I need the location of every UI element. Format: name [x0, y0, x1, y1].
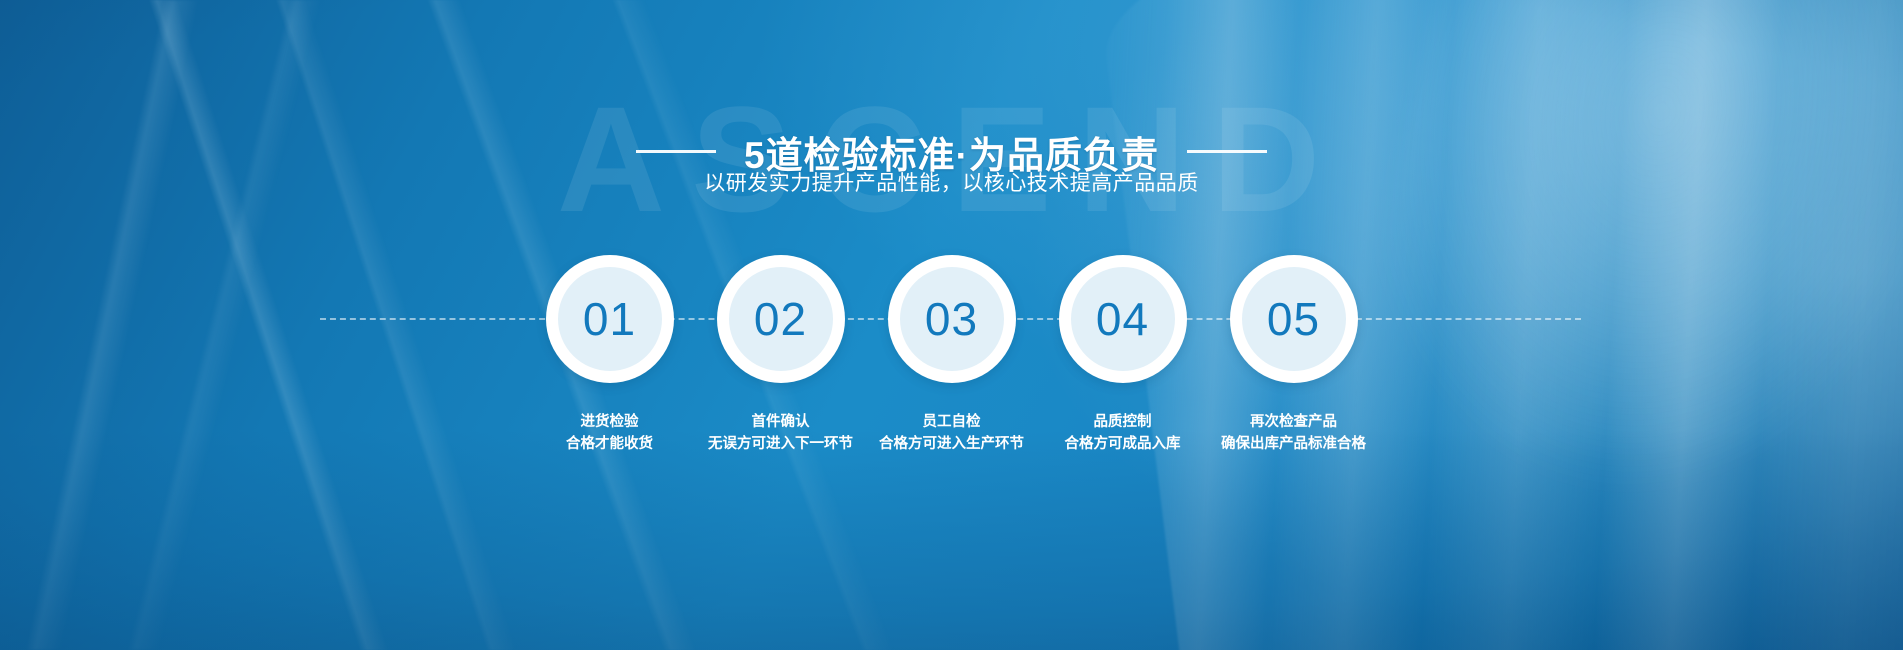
step-number: 02	[754, 296, 807, 342]
step-caption: 进货检验 合格才能收货	[566, 411, 653, 456]
step-item[interactable]: 01 进货检验 合格才能收货	[524, 255, 695, 456]
step-caption: 再次检查产品 确保出库产品标准合格	[1221, 411, 1366, 456]
headline-rule-left	[636, 150, 716, 153]
step-number: 03	[925, 296, 978, 342]
step-badge-inner: 03	[900, 267, 1004, 371]
step-title: 品质控制	[1065, 411, 1181, 433]
step-title: 再次检查产品	[1221, 411, 1366, 433]
step-description: 合格才能收货	[566, 433, 653, 455]
step-description: 确保出库产品标准合格	[1221, 433, 1366, 455]
step-item[interactable]: 05 再次检查产品 确保出库产品标准合格	[1208, 255, 1379, 456]
step-badge[interactable]: 03	[888, 255, 1016, 383]
step-badge-inner: 01	[558, 267, 662, 371]
step-badge[interactable]: 02	[717, 255, 845, 383]
steps-list: 01 进货检验 合格才能收货 02 首件确认 无误方可进入下一环节	[0, 255, 1903, 456]
step-number: 01	[583, 296, 636, 342]
process-steps: 01 进货检验 合格才能收货 02 首件确认 无误方可进入下一环节	[0, 255, 1903, 455]
step-item[interactable]: 04 品质控制 合格方可成品入库	[1037, 255, 1208, 456]
step-badge[interactable]: 01	[546, 255, 674, 383]
step-caption: 品质控制 合格方可成品入库	[1065, 411, 1181, 456]
step-badge-inner: 05	[1242, 267, 1346, 371]
step-number: 04	[1096, 296, 1149, 342]
step-badge-inner: 02	[729, 267, 833, 371]
step-title: 首件确认	[708, 411, 853, 433]
step-number: 05	[1267, 296, 1320, 342]
background-bottom-shade	[0, 430, 1903, 650]
step-caption: 员工自检 合格方可进入生产环节	[879, 411, 1024, 456]
step-item[interactable]: 03 员工自检 合格方可进入生产环节	[866, 255, 1037, 456]
step-description: 合格方可成品入库	[1065, 433, 1181, 455]
step-title: 进货检验	[566, 411, 653, 433]
step-caption: 首件确认 无误方可进入下一环节	[708, 411, 853, 456]
step-description: 无误方可进入下一环节	[708, 433, 853, 455]
step-badge-inner: 04	[1071, 267, 1175, 371]
quality-standards-banner: ASCEND 5道检验标准·为品质负责 以研发实力提升产品性能，以核心技术提高产…	[0, 0, 1903, 650]
step-badge[interactable]: 05	[1230, 255, 1358, 383]
step-badge[interactable]: 04	[1059, 255, 1187, 383]
page-subtitle: 以研发实力提升产品性能，以核心技术提高产品品质	[0, 167, 1903, 197]
step-description: 合格方可进入生产环节	[879, 433, 1024, 455]
step-title: 员工自检	[879, 411, 1024, 433]
step-item[interactable]: 02 首件确认 无误方可进入下一环节	[695, 255, 866, 456]
headline-rule-right	[1187, 150, 1267, 153]
